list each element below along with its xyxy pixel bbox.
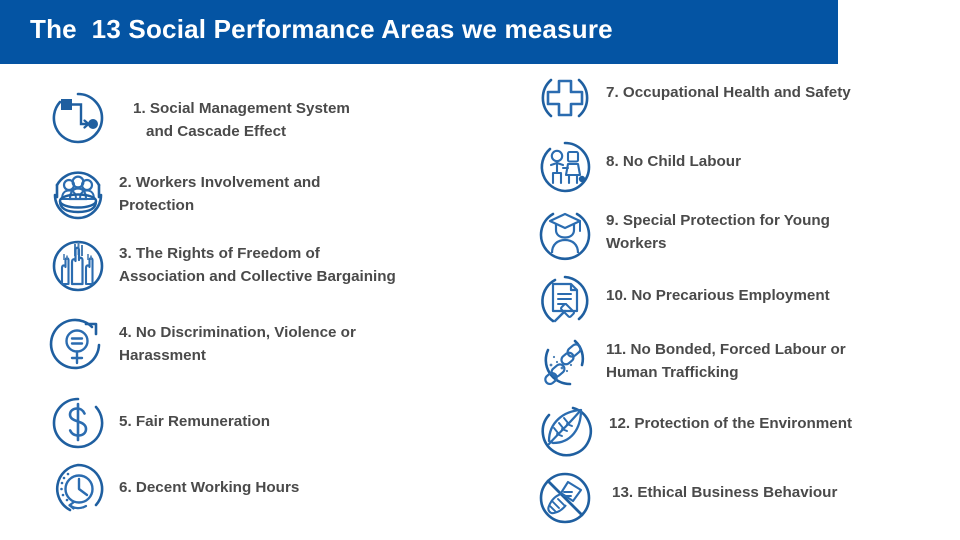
leaf-icon <box>535 399 595 459</box>
list-item-label: 2. Workers Involvement and Protection <box>119 171 320 217</box>
medical-cross-icon <box>535 68 595 128</box>
list-item[interactable]: 8. No Child Labour <box>535 137 955 197</box>
list-item-label: 9. Special Protection for Young Workers <box>606 209 830 255</box>
list-item-label: 12. Protection of the Environment <box>609 412 852 435</box>
list-item[interactable]: 11. No Bonded, Forced Labour or Human Tr… <box>535 332 935 392</box>
list-item-label: 13. Ethical Business Behaviour <box>612 481 837 504</box>
list-item-label: 1. Social Management System and Cascade … <box>133 97 350 143</box>
list-item[interactable]: 2. Workers Involvement and Protection <box>48 165 488 225</box>
graduate-student-icon <box>535 203 595 263</box>
header-bar: The 13 Social Performance Areas we measu… <box>0 0 838 64</box>
flowchart-cascade-icon <box>48 88 108 148</box>
list-item-label: 11. No Bonded, Forced Labour or Human Tr… <box>606 338 846 384</box>
raised-hands-icon <box>48 236 108 296</box>
list-item-label: 4. No Discrimination, Violence or Harass… <box>119 321 356 367</box>
list-item[interactable]: 3. The Rights of Freedom of Association … <box>48 236 498 296</box>
list-item[interactable]: 12. Protection of the Environment <box>535 399 955 459</box>
list-item[interactable]: 4. No Discrimination, Violence or Harass… <box>48 315 488 375</box>
dollar-sign-icon <box>48 393 108 453</box>
list-item[interactable]: 1. Social Management System and Cascade … <box>48 88 498 148</box>
broken-chain-icon <box>535 332 595 392</box>
list-item-label: 7. Occupational Health and Safety <box>606 81 851 104</box>
group-of-people-icon <box>48 165 108 225</box>
two-children-icon <box>535 137 595 197</box>
document-gavel-icon <box>535 271 595 331</box>
list-item-label: 5. Fair Remuneration <box>119 410 270 433</box>
list-item-label: 3. The Rights of Freedom of Association … <box>119 242 396 288</box>
list-item-label: 6. Decent Working Hours <box>119 476 299 499</box>
gender-equality-icon <box>48 315 108 375</box>
list-item[interactable]: 10. No Precarious Employment <box>535 271 955 331</box>
list-item-label: 10. No Precarious Employment <box>606 284 830 307</box>
list-item[interactable]: 7. Occupational Health and Safety <box>535 68 955 128</box>
list-item-label: 8. No Child Labour <box>606 150 741 173</box>
list-item[interactable]: 13. Ethical Business Behaviour <box>535 468 955 528</box>
page-title: The 13 Social Performance Areas we measu… <box>30 14 613 45</box>
list-item[interactable]: 6. Decent Working Hours <box>48 459 488 519</box>
no-handshake-bribe-icon <box>535 468 595 528</box>
list-item[interactable]: 5. Fair Remuneration <box>48 393 488 453</box>
list-item[interactable]: 9. Special Protection for Young Workers <box>535 203 935 263</box>
clock-icon <box>48 459 108 519</box>
